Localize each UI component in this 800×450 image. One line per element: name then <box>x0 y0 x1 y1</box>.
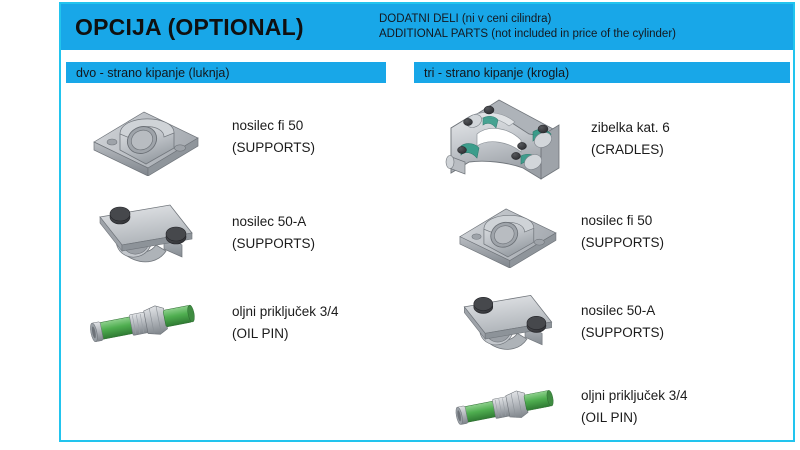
item-name-sl: nosilec fi 50 <box>581 210 664 232</box>
subtitle-english: ADDITIONAL PARTS (not included in price … <box>379 27 793 42</box>
list-item: oljni priključek 3/4 (OIL PIN) <box>451 378 688 436</box>
item-name-en: (SUPPORTS) <box>232 233 315 255</box>
column-header-right: tri - strano kipanje (krogla) <box>414 62 790 83</box>
pillow-block-bracket-icon <box>86 98 204 176</box>
subtitle-cell: DODATNI DELI (ni v ceni cilindra) ADDITI… <box>373 4 793 50</box>
item-name-sl: zibelka kat. 6 <box>591 117 670 139</box>
clamp-bracket-icon <box>451 284 563 360</box>
list-item: nosilec 50-A (SUPPORTS) <box>86 193 315 273</box>
list-item: nosilec 50-A (SUPPORTS) <box>451 284 664 360</box>
additional-parts-diagram: OPCIJA (OPTIONAL) DODATNI DELI (ni v cen… <box>0 0 800 450</box>
item-labels: zibelka kat. 6 (CRADLES) <box>591 117 670 161</box>
list-item: nosilec fi 50 (SUPPORTS) <box>451 196 664 268</box>
item-name-en: (SUPPORTS) <box>581 322 664 344</box>
oil-pin-fitting-icon <box>451 378 563 436</box>
item-name-sl: oljni priključek 3/4 <box>581 385 688 407</box>
pillow-block-bracket-icon <box>451 196 563 268</box>
oil-pin-fitting-icon <box>86 292 204 354</box>
item-name-en: (CRADLES) <box>591 139 670 161</box>
item-labels: oljni priključek 3/4 (OIL PIN) <box>581 385 688 429</box>
column-header-right-label: tri - strano kipanje (krogla) <box>424 66 569 80</box>
item-labels: nosilec 50-A (SUPPORTS) <box>232 211 315 255</box>
title-cell: OPCIJA (OPTIONAL) <box>61 4 373 50</box>
column-header-left-label: dvo - strano kipanje (luknja) <box>76 66 230 80</box>
item-labels: nosilec 50-A (SUPPORTS) <box>581 300 664 344</box>
item-name-en: (OIL PIN) <box>232 323 339 345</box>
page-title: OPCIJA (OPTIONAL) <box>75 14 304 41</box>
item-name-en: (SUPPORTS) <box>232 137 315 159</box>
item-name-sl: nosilec 50-A <box>581 300 664 322</box>
list-item: nosilec fi 50 (SUPPORTS) <box>86 98 315 176</box>
column-header-left: dvo - strano kipanje (luknja) <box>66 62 386 83</box>
subtitle-slovene: DODATNI DELI (ni v ceni cilindra) <box>379 12 793 27</box>
item-labels: oljni priključek 3/4 (OIL PIN) <box>232 301 339 345</box>
item-name-en: (SUPPORTS) <box>581 232 664 254</box>
list-item: oljni priključek 3/4 (OIL PIN) <box>86 292 339 354</box>
item-name-en: (OIL PIN) <box>581 407 688 429</box>
clamp-bracket-icon <box>86 193 204 273</box>
list-item: zibelka kat. 6 (CRADLES) <box>437 88 670 190</box>
item-name-sl: nosilec 50-A <box>232 211 315 233</box>
item-name-sl: nosilec fi 50 <box>232 115 315 137</box>
item-name-sl: oljni priključek 3/4 <box>232 301 339 323</box>
cradle-ring-clamp-icon <box>437 88 573 190</box>
item-labels: nosilec fi 50 (SUPPORTS) <box>232 115 315 159</box>
header-band: OPCIJA (OPTIONAL) DODATNI DELI (ni v cen… <box>61 4 793 50</box>
item-labels: nosilec fi 50 (SUPPORTS) <box>581 210 664 254</box>
